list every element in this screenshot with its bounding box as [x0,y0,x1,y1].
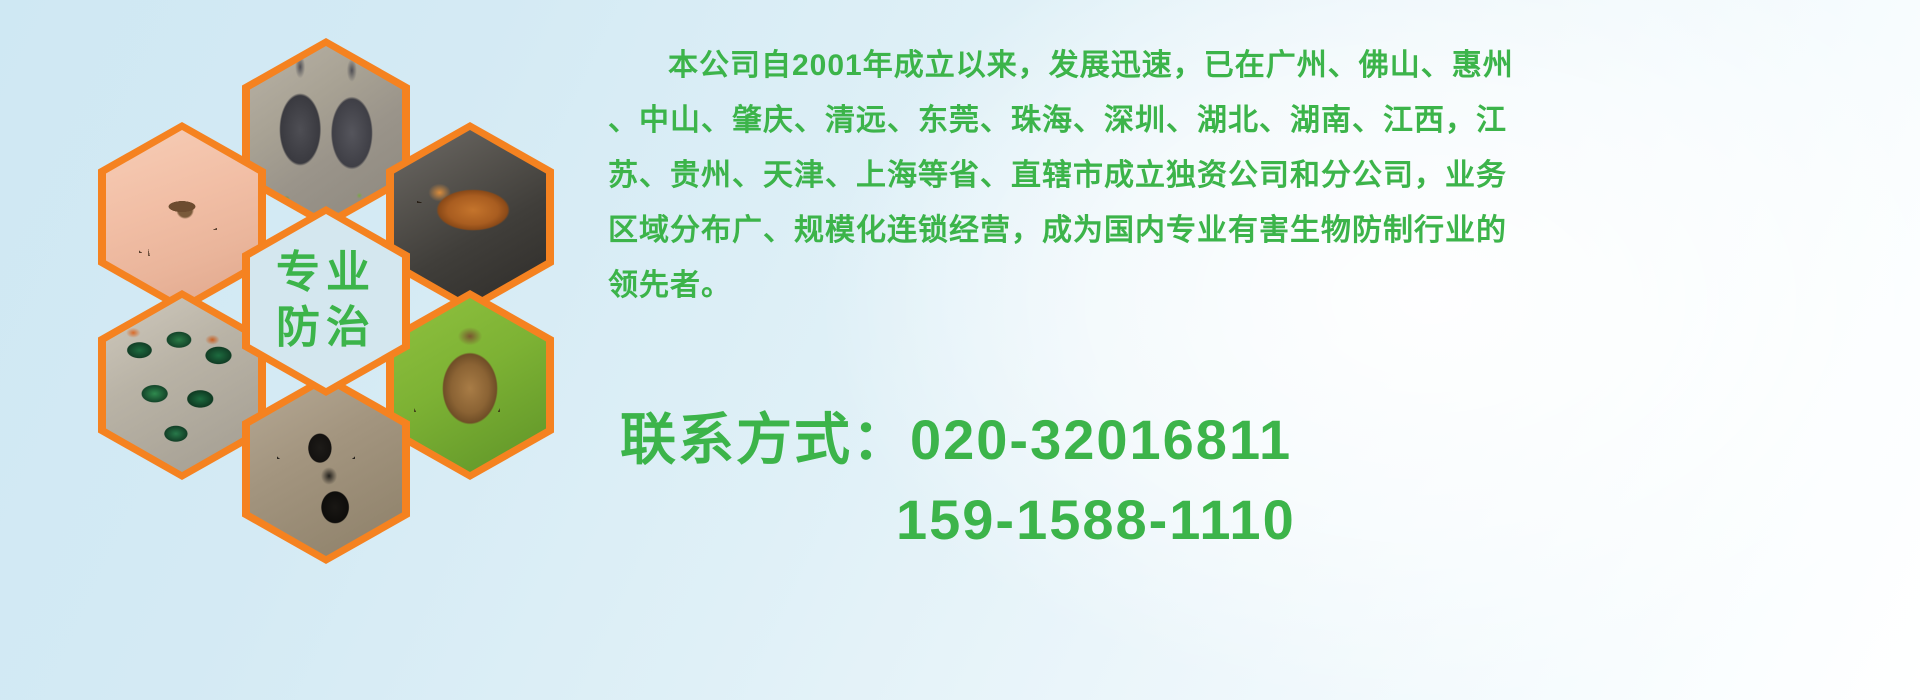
hex-cell-rat [242,38,410,228]
hex-inner-ant [250,382,402,556]
hex-cell-mosquito [98,122,266,312]
description-line-1: 本公司自2001年成立以来，发展迅速，已在广州、佛山、惠州 [608,38,1908,93]
hexagon-logo-cluster: 专业 防治 [88,10,588,570]
hex-inner-center: 专业 防治 [250,214,402,388]
contact-block: 联系方式：020-32016811 159-1588-1110 [620,400,1900,560]
contact-phone-primary[interactable]: 联系方式：020-32016811 [620,400,1900,480]
description-line-3: 苏、贵州、天津、上海等省、直辖市成立独资公司和分公司，业务 [608,148,1908,203]
promo-banner: 专业 防治 本公司自2001年成立以来，发展迅速，已在广州、佛山、惠州 、中山、… [0,0,1920,700]
flies-photo [106,298,258,472]
hex-inner-mosquito [106,130,258,304]
hex-cell-ant [242,374,410,564]
logo-slogan-line1: 专业 [276,248,376,299]
rat-photo [250,46,402,220]
ant-photo [250,382,402,556]
contact-phone-secondary[interactable]: 159-1588-1110 [620,480,1900,560]
cockroach-photo [394,130,546,304]
description-line-2: 、中山、肇庆、清远、东莞、珠海、深圳、湖北、湖南、江西，江 [608,93,1908,148]
logo-slogan: 专业 防治 [250,214,402,388]
hex-cell-stinkbug [386,290,554,480]
stinkbug-photo [394,298,546,472]
description-line-5: 领先者。 [608,258,1908,313]
hex-cell-center-slogan: 专业 防治 [242,206,410,396]
hex-inner-cockroach [394,130,546,304]
hex-inner-flies [106,298,258,472]
company-description: 本公司自2001年成立以来，发展迅速，已在广州、佛山、惠州 、中山、肇庆、清远、… [608,38,1908,313]
hex-inner-rat [250,46,402,220]
logo-slogan-line2: 防治 [276,303,376,354]
mosquito-photo [106,130,258,304]
hex-inner-stinkbug [394,298,546,472]
hex-cell-flies [98,290,266,480]
hex-cell-cockroach [386,122,554,312]
description-line-4: 区域分布广、规模化连锁经营，成为国内专业有害生物防制行业的 [608,203,1908,258]
